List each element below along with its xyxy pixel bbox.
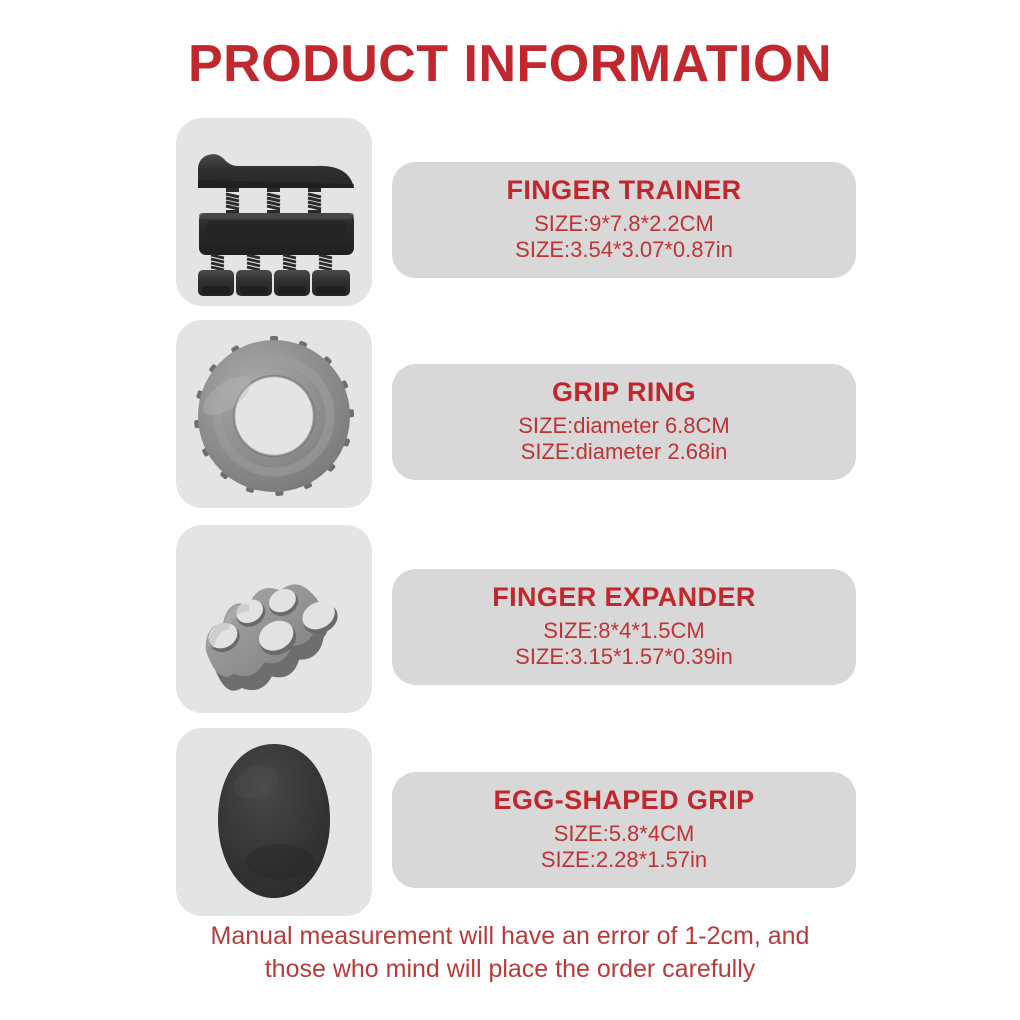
product-card-finger-trainer: FINGER TRAINER SIZE:9*7.8*2.2CM SIZE:3.5… [392,162,856,278]
product-size-in: SIZE:3.54*3.07*0.87in [515,237,733,264]
product-image-panel-grip-ring [176,320,372,508]
disclaimer-line-2: those who mind will place the order care… [0,953,1020,986]
disclaimer-note: Manual measurement will have an error of… [0,920,1020,986]
product-card-grip-ring: GRIP RING SIZE:diameter 6.8CM SIZE:diame… [392,364,856,480]
product-size-cm: SIZE:8*4*1.5CM [543,618,704,645]
product-row-grip-ring: GRIP RING SIZE:diameter 6.8CM SIZE:diame… [0,320,1020,510]
egg-shaped-grip-icon [176,728,372,916]
page-title: PRODUCT INFORMATION [0,34,1020,94]
product-name: FINGER EXPANDER [492,583,756,613]
product-size-cm: SIZE:diameter 6.8CM [518,413,730,440]
product-size-in: SIZE:2.28*1.57in [541,847,707,874]
product-information-page: PRODUCT INFORMATION [0,0,1020,1020]
product-card-egg-shaped-grip: EGG-SHAPED GRIP SIZE:5.8*4CM SIZE:2.28*1… [392,772,856,888]
product-image-panel-egg-shaped-grip [176,728,372,916]
product-image-panel-finger-trainer [176,118,372,306]
product-row-finger-expander: FINGER EXPANDER SIZE:8*4*1.5CM SIZE:3.15… [0,525,1020,715]
product-row-egg-shaped-grip: EGG-SHAPED GRIP SIZE:5.8*4CM SIZE:2.28*1… [0,728,1020,918]
grip-ring-icon [176,320,372,508]
product-size-cm: SIZE:5.8*4CM [554,821,695,848]
product-name: EGG-SHAPED GRIP [493,786,754,816]
finger-trainer-icon [176,118,372,306]
product-size-in: SIZE:3.15*1.57*0.39in [515,644,733,671]
product-row-finger-trainer: FINGER TRAINER SIZE:9*7.8*2.2CM SIZE:3.5… [0,118,1020,308]
finger-expander-icon [176,525,372,713]
product-size-cm: SIZE:9*7.8*2.2CM [534,211,714,238]
product-image-panel-finger-expander [176,525,372,713]
product-size-in: SIZE:diameter 2.68in [521,439,728,466]
product-card-finger-expander: FINGER EXPANDER SIZE:8*4*1.5CM SIZE:3.15… [392,569,856,685]
product-name: GRIP RING [552,378,696,408]
product-name: FINGER TRAINER [506,176,741,206]
disclaimer-line-1: Manual measurement will have an error of… [0,920,1020,953]
